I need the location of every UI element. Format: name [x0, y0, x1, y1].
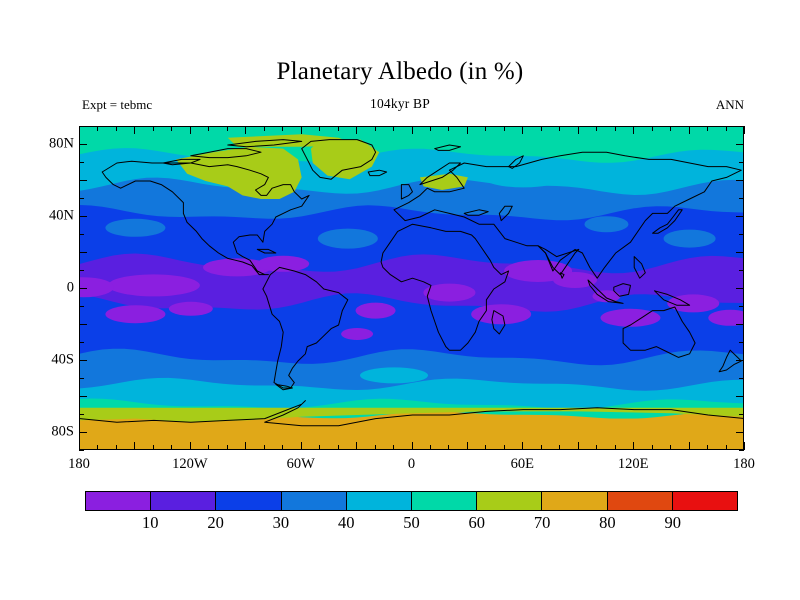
x-axis-tick-label: 120W: [172, 456, 207, 473]
tick-mark: [736, 180, 744, 181]
albedo-patch-satl-storm: [360, 367, 428, 383]
albedo-patch-npacific: [664, 230, 716, 248]
colorbar-tick-label: 40: [338, 513, 355, 533]
tick-mark: [596, 126, 597, 131]
tick-mark: [356, 126, 357, 134]
albedo-patch-china: [584, 216, 628, 232]
tick-mark: [739, 450, 744, 451]
colorbar-tick-label: 60: [469, 513, 486, 533]
tick-mark: [739, 414, 744, 415]
tick-mark: [736, 216, 744, 217]
tick-mark: [430, 126, 431, 131]
albedo-min-atlantic-trop: [257, 256, 309, 272]
tick-mark: [79, 378, 84, 379]
colorbar-swatch-3[interactable]: [281, 492, 346, 510]
x-axis-tick-label: 60E: [511, 456, 534, 473]
tick-mark: [707, 445, 708, 450]
antarctic-plateau-core: [376, 428, 690, 448]
albedo-min-indian-sw: [471, 304, 531, 324]
tick-mark: [79, 144, 87, 145]
tick-mark: [319, 445, 320, 450]
tick-mark: [633, 126, 634, 134]
tick-mark: [726, 445, 727, 450]
tick-mark: [79, 198, 84, 199]
tick-mark: [615, 126, 616, 131]
tick-mark: [736, 396, 744, 397]
albedo-map-figure: Planetary Albedo (in %) 104kyr BP Expt =…: [0, 0, 800, 600]
tick-mark: [559, 126, 560, 131]
y-axis-tick-label: 40N: [49, 208, 74, 225]
season-label: ANN: [716, 97, 744, 113]
tick-mark: [134, 442, 135, 450]
tick-mark: [227, 126, 228, 131]
y-axis-tick-label: 0: [67, 280, 74, 297]
tick-mark: [739, 270, 744, 271]
colorbar-swatch-8[interactable]: [607, 492, 672, 510]
tick-mark: [736, 360, 744, 361]
tick-mark: [578, 126, 579, 134]
colorbar-tick-label: 90: [664, 513, 681, 533]
tick-mark: [375, 126, 376, 131]
tick-mark: [739, 342, 744, 343]
tick-mark: [79, 126, 80, 134]
tick-mark: [190, 442, 191, 450]
tick-mark: [448, 126, 449, 131]
tick-mark: [79, 162, 84, 163]
tick-mark: [467, 442, 468, 450]
colorbar-tick-label: 70: [534, 513, 551, 533]
tick-mark: [412, 126, 413, 134]
tick-mark: [430, 445, 431, 450]
x-axis-tick-label: 120E: [618, 456, 649, 473]
tick-mark: [79, 180, 87, 181]
tick-mark: [282, 126, 283, 131]
tick-mark: [171, 445, 172, 450]
tick-mark: [559, 445, 560, 450]
colorbar-tick-label: 80: [599, 513, 616, 533]
tick-mark: [208, 126, 209, 131]
tick-mark: [79, 342, 84, 343]
tick-mark: [79, 396, 87, 397]
tick-mark: [301, 126, 302, 134]
tick-mark: [301, 442, 302, 450]
albedo-min-satlantic: [356, 303, 396, 319]
tick-mark: [689, 442, 690, 450]
tick-mark: [393, 126, 394, 131]
y-axis-tick-label: 40S: [51, 352, 74, 369]
x-axis-tick-label: 180: [733, 456, 755, 473]
tick-mark: [79, 360, 87, 361]
colorbar-swatch-1[interactable]: [150, 492, 215, 510]
colorbar-swatch-6[interactable]: [476, 492, 541, 510]
tick-mark: [670, 126, 671, 131]
tick-mark: [79, 414, 84, 415]
tick-mark: [338, 445, 339, 450]
tick-mark: [485, 126, 486, 131]
map-plot-area: [79, 126, 744, 450]
tick-mark: [190, 126, 191, 134]
albedo-min-satl-2: [341, 328, 373, 340]
tick-mark: [736, 324, 744, 325]
tick-mark: [707, 126, 708, 131]
tick-mark: [739, 306, 744, 307]
albedo-patch-natlantic: [318, 229, 378, 249]
albedo-min-spacific: [105, 305, 165, 323]
x-axis-tick-label: 0: [408, 456, 415, 473]
tick-mark: [79, 252, 87, 253]
albedo-patch-siberia: [483, 167, 563, 187]
colorbar-tick-label: 10: [142, 513, 159, 533]
tick-mark: [171, 126, 172, 131]
colorbar-swatch-9[interactable]: [672, 492, 737, 510]
colorbar-swatch-2[interactable]: [215, 492, 280, 510]
tick-mark: [79, 450, 84, 451]
tick-mark: [739, 234, 744, 235]
y-axis-tick-label: 80N: [49, 136, 74, 153]
tick-mark: [689, 126, 690, 134]
tick-mark: [578, 442, 579, 450]
albedo-min-spacific-2: [169, 302, 213, 316]
tick-mark: [79, 234, 84, 235]
tick-mark: [739, 126, 744, 127]
albedo-contour-map: [80, 127, 744, 450]
tick-mark: [227, 445, 228, 450]
tick-mark: [522, 442, 523, 450]
tick-mark: [485, 445, 486, 450]
tick-mark: [393, 445, 394, 450]
tick-mark: [97, 126, 98, 131]
tick-mark: [79, 306, 84, 307]
tick-mark: [338, 126, 339, 131]
tick-mark: [79, 216, 87, 217]
tick-mark: [319, 126, 320, 131]
tick-mark: [116, 445, 117, 450]
tick-mark: [79, 324, 87, 325]
tick-mark: [448, 445, 449, 450]
tick-mark: [282, 445, 283, 450]
albedo-min-pacific-central: [108, 274, 200, 296]
y-axis-tick-label: 80S: [51, 424, 74, 441]
tick-mark: [652, 126, 653, 131]
tick-mark: [79, 432, 87, 433]
tick-mark: [504, 126, 505, 131]
tick-mark: [245, 442, 246, 450]
tick-mark: [375, 445, 376, 450]
tick-mark: [79, 126, 84, 127]
tick-mark: [739, 162, 744, 163]
colorbar[interactable]: [85, 491, 738, 511]
tick-mark: [744, 442, 745, 450]
tick-mark: [116, 126, 117, 131]
tick-mark: [670, 445, 671, 450]
tick-mark: [541, 445, 542, 450]
colorbar-tick-label: 50: [403, 513, 420, 533]
tick-mark: [264, 445, 265, 450]
tick-mark: [412, 442, 413, 450]
tick-mark: [596, 445, 597, 450]
tick-mark: [739, 378, 744, 379]
tick-mark: [97, 445, 98, 450]
tick-mark: [356, 442, 357, 450]
colorbar-swatch-4[interactable]: [346, 492, 411, 510]
experiment-label: Expt = tebmc: [82, 97, 152, 113]
tick-mark: [744, 126, 745, 134]
tick-mark: [264, 126, 265, 131]
x-axis-tick-label: 60W: [287, 456, 315, 473]
page-title: Planetary Albedo (in %): [0, 58, 800, 86]
colorbar-swatch-5[interactable]: [411, 492, 476, 510]
x-axis-tick-label: 180: [68, 456, 90, 473]
tick-mark: [208, 445, 209, 450]
colorbar-tick-label: 20: [207, 513, 224, 533]
tick-mark: [541, 126, 542, 131]
tick-mark: [79, 270, 84, 271]
tick-mark: [153, 445, 154, 450]
tick-mark: [615, 445, 616, 450]
tick-mark: [736, 288, 744, 289]
colorbar-tick-label: 30: [273, 513, 290, 533]
tick-mark: [736, 252, 744, 253]
tick-mark: [134, 126, 135, 134]
tick-mark: [504, 445, 505, 450]
tick-mark: [736, 144, 744, 145]
tick-mark: [652, 445, 653, 450]
colorbar-swatch-0[interactable]: [86, 492, 150, 510]
tick-mark: [739, 198, 744, 199]
tick-mark: [79, 288, 87, 289]
tick-mark: [79, 442, 80, 450]
tick-mark: [467, 126, 468, 134]
albedo-min-congo: [423, 284, 475, 302]
tick-mark: [633, 442, 634, 450]
tick-mark: [245, 126, 246, 134]
tick-mark: [153, 126, 154, 131]
tick-mark: [726, 126, 727, 131]
tick-mark: [522, 126, 523, 134]
tick-mark: [736, 432, 744, 433]
colorbar-swatch-7[interactable]: [541, 492, 606, 510]
albedo-patch-npacific-2: [105, 219, 165, 237]
